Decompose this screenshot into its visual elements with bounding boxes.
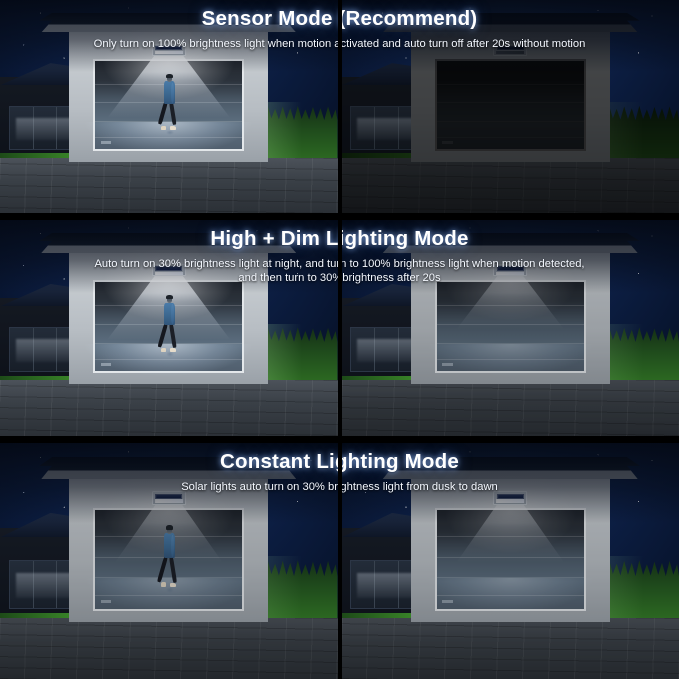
led-array: [496, 272, 524, 275]
garage-building: [69, 30, 268, 162]
driveway-pavers: [0, 380, 338, 436]
vertical-divider: [338, 0, 342, 679]
solar-panel: [497, 46, 524, 51]
garage-building: [69, 476, 268, 622]
panel-divider: [0, 213, 679, 220]
door-handle: [442, 141, 452, 144]
roof-eave: [41, 15, 296, 32]
garage-door: [435, 508, 586, 610]
scene-sensor-left: [0, 0, 338, 213]
garage-building: [69, 250, 268, 384]
driveway: [0, 618, 338, 679]
garage-door: [435, 280, 586, 374]
driveway-pavers: [342, 158, 679, 213]
roof-eave: [383, 15, 638, 32]
door-handle: [101, 141, 111, 144]
led-array: [155, 272, 183, 275]
walking-person-icon: [161, 75, 179, 130]
solar-panel: [155, 494, 182, 499]
roof-eave: [383, 236, 638, 253]
solar-panel: [155, 266, 182, 271]
garage-building: [411, 30, 610, 162]
led-array: [496, 499, 524, 502]
door-handle: [101, 363, 111, 366]
solar-panel: [497, 266, 524, 271]
driveway-pavers: [0, 618, 338, 679]
door-handle: [442, 600, 452, 603]
driveway-pavers: [0, 158, 338, 213]
roof-eave: [41, 236, 296, 253]
solar-wall-light-icon: [152, 264, 186, 276]
driveway: [0, 380, 338, 436]
scene-constant-left: [0, 443, 338, 679]
led-array: [155, 499, 183, 502]
driveway: [0, 158, 338, 213]
panel-divider: [0, 436, 679, 443]
door-handle: [101, 600, 111, 603]
solar-wall-light-icon: [493, 491, 527, 504]
garage-building: [411, 476, 610, 622]
garage-building: [411, 250, 610, 384]
driveway: [342, 158, 679, 213]
garage-door: [435, 59, 586, 151]
driveway-pavers: [342, 380, 679, 436]
roof-eave: [383, 460, 638, 479]
scene-highdim-right: [338, 220, 679, 436]
roof-eave: [41, 460, 296, 479]
driveway: [342, 380, 679, 436]
driveway: [342, 618, 679, 679]
led-array: [496, 51, 524, 54]
scene-constant-right: [338, 443, 679, 679]
driveway-pavers: [342, 618, 679, 679]
scene-sensor-right: [338, 0, 679, 213]
scene-highdim-left: [0, 220, 338, 436]
solar-panel: [497, 494, 524, 499]
led-array: [155, 51, 183, 54]
solar-wall-light-icon: [152, 491, 186, 504]
solar-wall-light-icon: [152, 44, 186, 56]
solar-wall-light-icon: [493, 44, 527, 56]
door-handle: [442, 363, 452, 366]
solar-panel: [155, 46, 182, 51]
walking-person-icon: [161, 526, 179, 587]
lighting-modes-infographic: Sensor Mode (Recommend) Only turn on 100…: [0, 0, 679, 679]
walking-person-icon: [161, 296, 179, 352]
solar-wall-light-icon: [493, 264, 527, 276]
